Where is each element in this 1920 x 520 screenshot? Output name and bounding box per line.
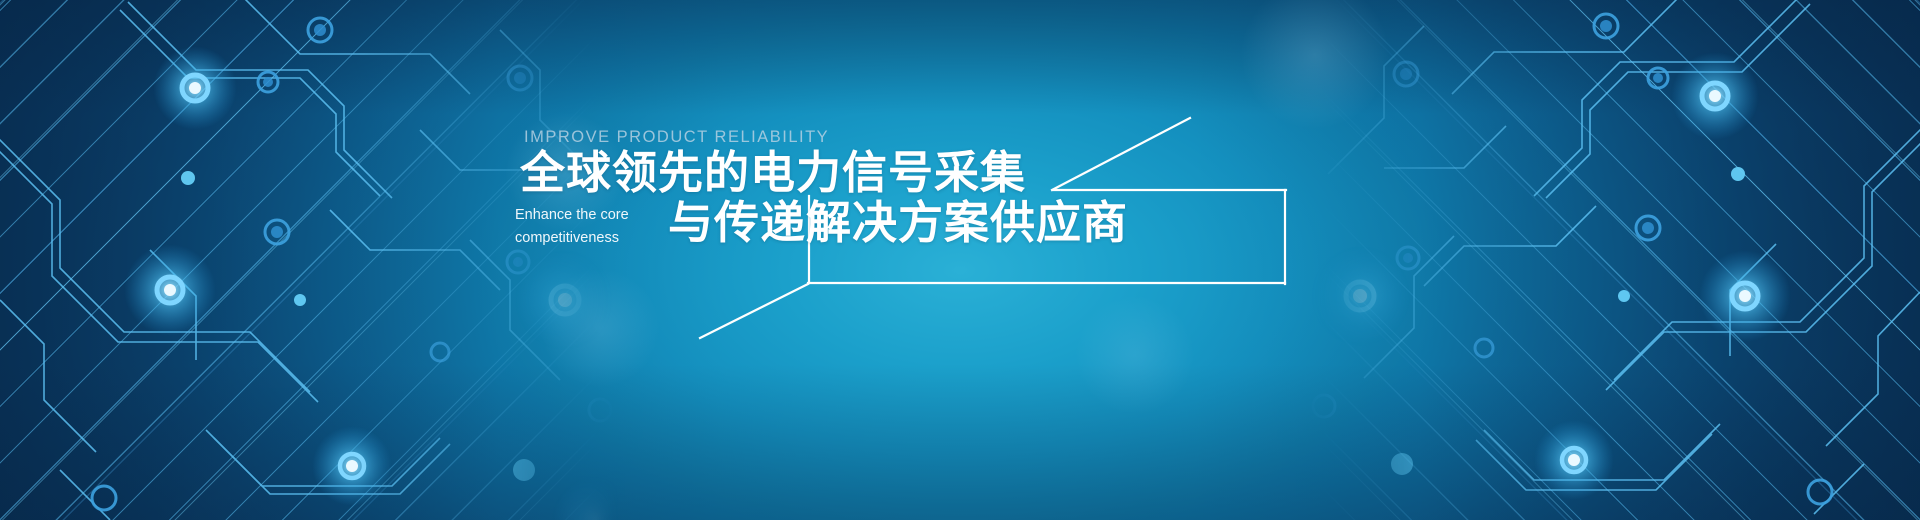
banner-subtext-line1: Enhance the core [515,204,655,227]
banner-headline-line1: 全球领先的电力信号采集 [520,150,1026,195]
banner-headline-line2: 与传递解决方案供应商 [668,200,1128,245]
banner-subtext: Enhance the core competitiveness [515,204,655,251]
hero-banner: IMPROVE PRODUCT RELIABILITY 全球领先的电力信号采集 … [0,0,1920,520]
banner-text-content: IMPROVE PRODUCT RELIABILITY 全球领先的电力信号采集 … [0,0,1920,520]
banner-eyebrow: IMPROVE PRODUCT RELIABILITY [524,128,829,147]
banner-subtext-line2: competitiveness [515,227,655,250]
